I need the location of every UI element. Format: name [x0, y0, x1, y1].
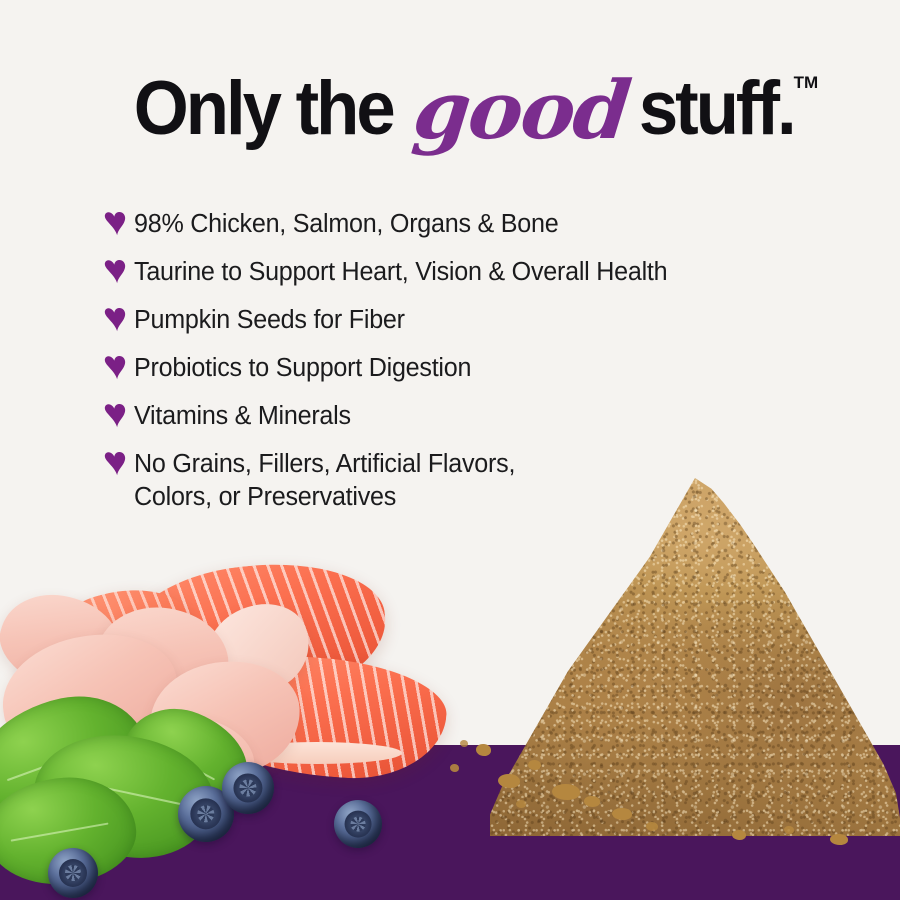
list-item-label: Taurine to Support Heart, Vision & Overa… [134, 256, 667, 290]
list-item-label: 98% Chicken, Salmon, Organs & Bone [134, 208, 558, 242]
headline-part-2: stuff. [639, 71, 794, 147]
trademark-symbol: TM [794, 73, 819, 93]
heart-icon [104, 212, 134, 236]
heart-icon [104, 356, 134, 380]
headline-script-word: good [410, 70, 633, 150]
chicken-piece [85, 594, 239, 729]
heart-icon [104, 308, 134, 332]
heart-icon [104, 452, 134, 476]
salmon-fillet [112, 552, 392, 711]
headline-part-1: Only the [134, 71, 393, 147]
purple-band [0, 745, 900, 900]
list-item: Taurine to Support Heart, Vision & Overa… [104, 256, 864, 290]
feature-list: 98% Chicken, Salmon, Organs & Bone Tauri… [104, 208, 864, 529]
heart-icon [104, 260, 134, 284]
chicken-piece [195, 592, 320, 706]
list-item-label: No Grains, Fillers, Artificial Flavors, … [134, 448, 597, 516]
list-item: Pumpkin Seeds for Fiber [104, 304, 864, 338]
list-item: Vitamins & Minerals [104, 400, 864, 434]
heart-icon [104, 404, 134, 428]
list-item-label: Probiotics to Support Digestion [134, 352, 471, 386]
list-item: 98% Chicken, Salmon, Organs & Bone [104, 208, 864, 242]
list-item: Probiotics to Support Digestion [104, 352, 864, 386]
page-title: Only the good stuff. TM [124, 66, 824, 147]
list-item-label: Vitamins & Minerals [134, 400, 351, 434]
product-feature-graphic: Only the good stuff. TM 98% Chicken, Sal… [0, 0, 900, 900]
list-item: No Grains, Fillers, Artificial Flavors, … [104, 448, 864, 516]
list-item-label: Pumpkin Seeds for Fiber [134, 304, 405, 338]
chicken-piece [0, 580, 131, 705]
salmon-fillet [34, 575, 205, 712]
